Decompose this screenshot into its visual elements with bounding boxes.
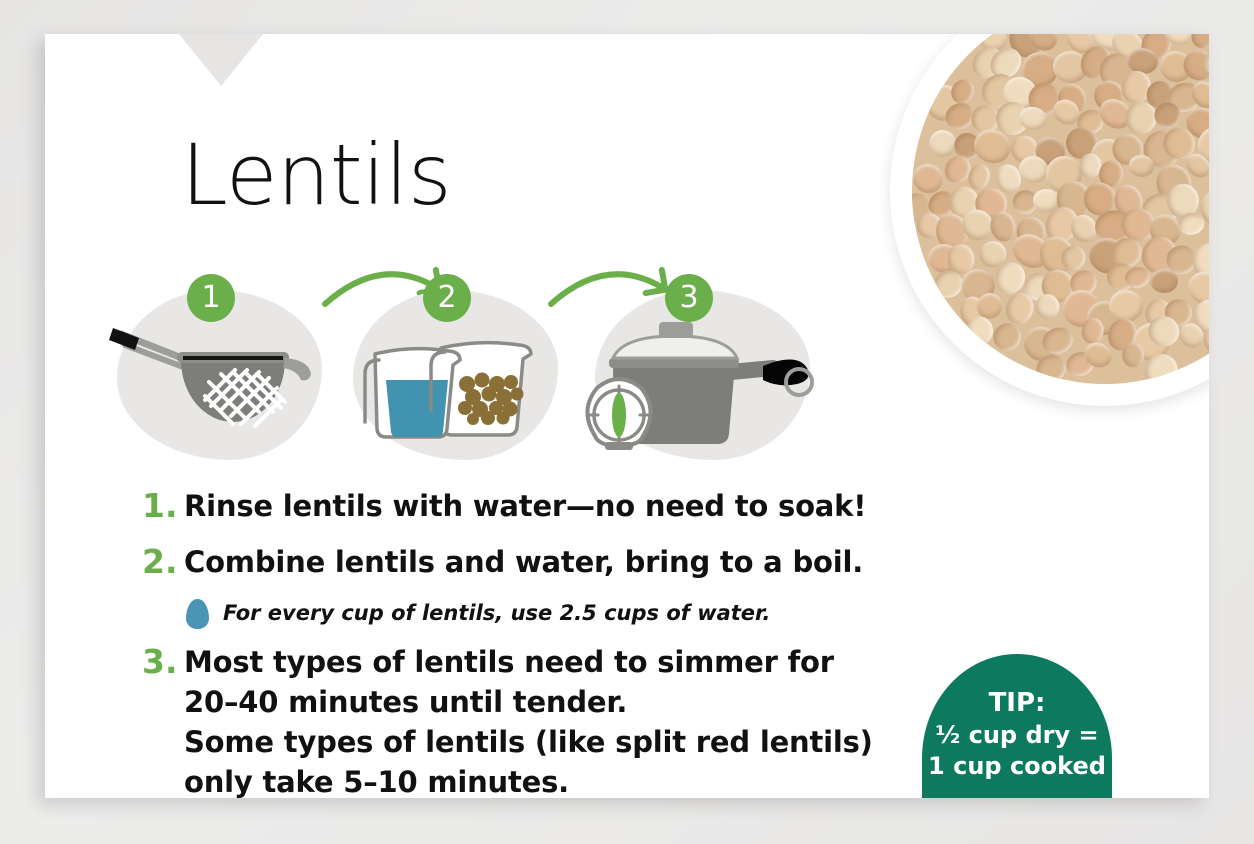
- step-badge-2: 2: [423, 274, 471, 322]
- water-ratio-note: For every cup of lentils, use 2.5 cups o…: [186, 598, 932, 628]
- tip-line-2: 1 cup cooked: [922, 751, 1112, 782]
- tip-label: TIP:: [922, 687, 1112, 720]
- instruction-line: only take 5–10 minutes.: [184, 762, 932, 798]
- instruction-line: Most types of lentils need to simmer for: [184, 642, 932, 682]
- instructions-list: 1. Rinse lentils with water—no need to s…: [142, 486, 932, 798]
- lentil: [1122, 342, 1145, 368]
- process-step-3: 3: [577, 282, 807, 467]
- process-step-2: 2: [345, 282, 575, 467]
- lentil: [1188, 34, 1209, 52]
- instruction-line: Some types of lentils (like split red le…: [184, 722, 932, 762]
- tip-badge: TIP: ½ cup dry = 1 cup cooked: [922, 654, 1112, 798]
- process-step-1: 1: [109, 282, 339, 467]
- recipe-card: Lentils 1: [45, 34, 1209, 798]
- bowl-interior: [912, 34, 1209, 384]
- infographic-page: Lentils 1: [0, 0, 1254, 844]
- card-notch: [179, 34, 263, 86]
- instruction-text: Rinse lentils with water—no need to soak…: [184, 486, 932, 526]
- instruction-line: Rinse lentils with water—no need to soak…: [184, 486, 932, 526]
- instruction-text: Most types of lentils need to simmer for…: [184, 642, 932, 798]
- bowl-shape: [890, 34, 1209, 406]
- instruction-item-1: 1. Rinse lentils with water—no need to s…: [142, 486, 932, 526]
- water-drop-icon: [186, 599, 209, 629]
- process-diagram: 1: [97, 252, 907, 467]
- page-title: Lentils: [181, 133, 451, 217]
- instruction-item-3: 3. Most types of lentils need to simmer …: [142, 642, 932, 798]
- instruction-text: Combine lentils and water, bring to a bo…: [184, 542, 932, 582]
- tip-line-1: ½ cup dry =: [922, 720, 1112, 751]
- instruction-number: 1.: [142, 486, 184, 526]
- lentil: [1149, 268, 1178, 293]
- step-badge-1: 1: [187, 274, 235, 322]
- instruction-line: Combine lentils and water, bring to a bo…: [184, 542, 932, 582]
- water-ratio-note-text: For every cup of lentils, use 2.5 cups o…: [223, 599, 770, 627]
- instruction-number: 3.: [142, 642, 184, 682]
- instruction-item-2: 2. Combine lentils and water, bring to a…: [142, 542, 932, 582]
- instruction-number: 2.: [142, 542, 184, 582]
- lentils-photo: [864, 34, 1209, 444]
- instruction-line: 20–40 minutes until tender.: [184, 682, 932, 722]
- step-badge-3: 3: [665, 274, 713, 322]
